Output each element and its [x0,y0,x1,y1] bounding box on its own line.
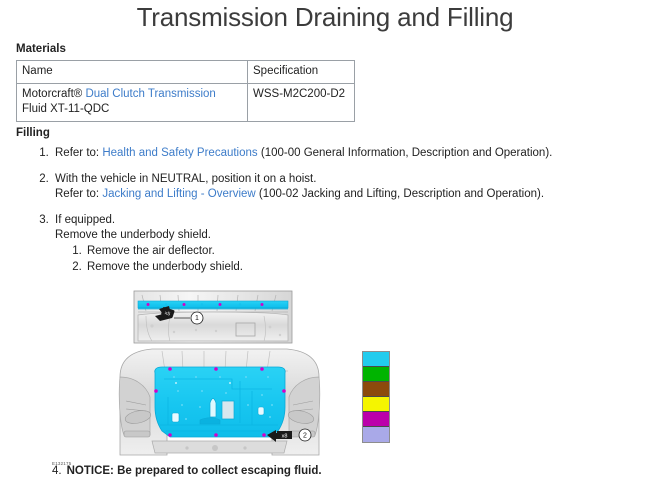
legend-swatch-brown [363,382,389,397]
substep-3-2: Remove the underbody shield. [85,259,650,275]
column-header-name: Name [17,61,248,84]
substep-3-1: Remove the air deflector. [85,243,650,259]
step-3-line2: Remove the underbody shield. [55,228,650,243]
callout-2-label: 2 [303,432,307,439]
cell-material-specification: WSS-M2C200-D2 [248,84,355,122]
step-2: With the vehicle in NEUTRAL, position it… [52,172,650,202]
column-header-specification: Specification [248,61,355,84]
document-page: Transmission Draining and Filling Materi… [0,0,650,488]
step-4-notice-text: Be prepared to collect escaping fluid. [114,465,322,477]
underbody-shield-illustration: x5 1 [112,285,327,467]
step-2-link[interactable]: Jacking and Lifting - Overview [102,188,255,200]
step-3: If equipped. Remove the underbody shield… [52,213,650,275]
table-header-row: Name Specification [17,61,355,84]
table-row: Motorcraft® Dual Clutch Transmission Flu… [17,84,355,122]
figure-inset-panel: x5 1 [134,291,292,343]
material-name-suffix: Fluid XT-11-QDC [22,103,109,115]
callout-2-quantity: x8 [282,434,288,440]
filling-heading: Filling [0,122,650,144]
step-1-prefix: Refer to: [55,147,102,159]
material-name-prefix: Motorcraft® [22,88,85,100]
cell-material-name: Motorcraft® Dual Clutch Transmission Flu… [17,84,248,122]
step-1-suffix: (100-00 General Information, Description… [258,147,553,159]
legend-swatch-magenta [363,412,389,427]
legend-swatch-green [363,367,389,382]
page-title: Transmission Draining and Filling [0,0,650,38]
material-name-link[interactable]: Dual Clutch Transmission [85,88,215,100]
step-4: 4.NOTICE: Be prepared to collect escapin… [0,464,650,479]
color-legend [362,351,390,443]
legend-swatch-cyan [363,352,389,367]
figure-wrapper: x5 1 [0,285,650,475]
legend-swatch-light-purple [363,427,389,442]
figure-main-view: x8 2 [119,349,320,455]
materials-heading: Materials [0,38,650,60]
step-2-suffix: (100-02 Jacking and Lifting, Description… [256,188,544,200]
step-3-substeps: Remove the air deflector. Remove the und… [55,243,650,275]
step-4-number: 4. [52,465,62,477]
step-1-link[interactable]: Health and Safety Precautions [102,147,257,159]
step-2-line1: With the vehicle in NEUTRAL, position it… [55,172,650,187]
step-4-notice-label: NOTICE: [67,465,114,477]
step-2-reference: Refer to: Jacking and Lifting - Overview… [55,187,650,202]
step-1: Refer to: Health and Safety Precautions … [52,146,650,161]
filling-steps-list: Refer to: Health and Safety Precautions … [0,146,650,275]
legend-swatch-yellow [363,397,389,412]
callout-1-label: 1 [195,315,199,322]
materials-table: Name Specification Motorcraft® Dual Clut… [16,60,355,122]
step-3-line1: If equipped. [55,213,650,228]
step-2-prefix: Refer to: [55,188,102,200]
